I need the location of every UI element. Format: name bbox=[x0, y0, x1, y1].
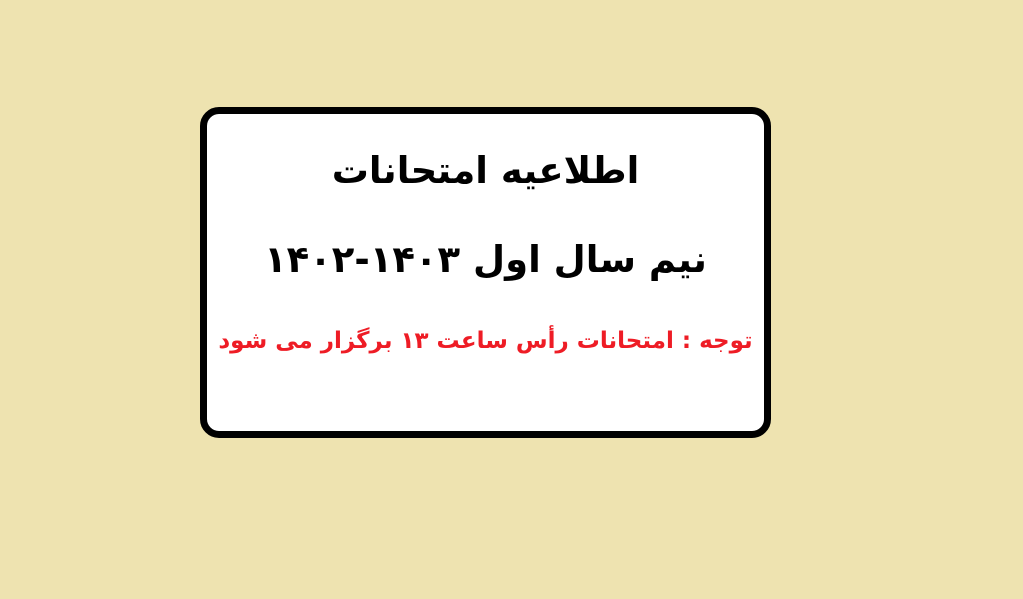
announcement-card: اطلاعیه امتحانات نیم سال اول ۱۴۰۳-۱۴۰۲ ت… bbox=[200, 107, 771, 438]
announcement-card-body: اطلاعیه امتحانات نیم سال اول ۱۴۰۳-۱۴۰۲ ت… bbox=[207, 114, 764, 357]
announcement-title: اطلاعیه امتحانات bbox=[332, 148, 640, 195]
announcement-semester-line: نیم سال اول ۱۴۰۳-۱۴۰۲ bbox=[264, 237, 707, 284]
poster-canvas: اطلاعیه امتحانات نیم سال اول ۱۴۰۳-۱۴۰۲ ت… bbox=[0, 0, 1023, 599]
announcement-notice-text: توجه : امتحانات رأس ساعت ۱۳ برگزار می شو… bbox=[218, 327, 752, 357]
